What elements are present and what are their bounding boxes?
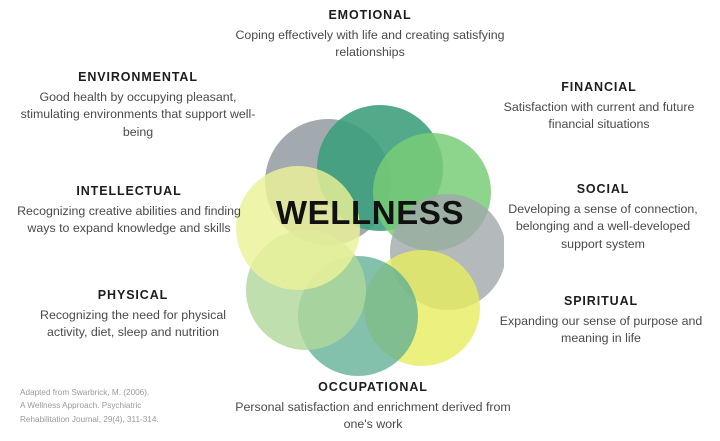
citation-line-3: Rehabilitation Journal, 29(4), 311-314. (20, 413, 220, 426)
dimension-label-occupational: OCCUPATIONAL Personal satisfaction and e… (232, 380, 514, 434)
dimension-desc-occupational: Personal satisfaction and enrichment der… (232, 399, 514, 434)
dimension-title-physical: PHYSICAL (22, 288, 244, 304)
dimension-desc-emotional: Coping effectively with life and creatin… (232, 27, 508, 62)
dimension-title-occupational: OCCUPATIONAL (232, 380, 514, 396)
dimension-label-emotional: EMOTIONAL Coping effectively with life a… (232, 8, 508, 62)
dimension-title-environmental: ENVIRONMENTAL (14, 70, 262, 86)
dimension-title-intellectual: INTELLECTUAL (14, 184, 244, 200)
dimension-label-environmental: ENVIRONMENTAL Good health by occupying p… (14, 70, 262, 141)
dimension-desc-environmental: Good health by occupying pleasant, stimu… (14, 89, 262, 142)
dimension-desc-spiritual: Expanding our sense of purpose and meani… (490, 313, 712, 348)
dimension-label-social: SOCIAL Developing a sense of connection,… (496, 182, 710, 253)
citation-line-1: Adapted from Swarbrick, M. (2006). (20, 386, 220, 399)
dimension-title-financial: FINANCIAL (488, 80, 710, 96)
dimension-desc-social: Developing a sense of connection, belong… (496, 201, 710, 254)
wellness-venn-diagram: WELLNESS (236, 76, 504, 376)
dimension-title-social: SOCIAL (496, 182, 710, 198)
dimension-desc-physical: Recognizing the need for physical activi… (22, 307, 244, 342)
dimension-label-spiritual: SPIRITUAL Expanding our sense of purpose… (490, 294, 712, 348)
dimension-desc-intellectual: Recognizing creative abilities and findi… (14, 203, 244, 238)
citation-line-2: A Wellness Approach. Psychiatric (20, 399, 220, 412)
dimension-label-physical: PHYSICAL Recognizing the need for physic… (22, 288, 244, 342)
dimension-desc-financial: Satisfaction with current and future fin… (488, 99, 710, 134)
source-citation: Adapted from Swarbrick, M. (2006). A Wel… (20, 386, 220, 426)
wellness-center-title: WELLNESS (236, 196, 504, 229)
dimension-title-spiritual: SPIRITUAL (490, 294, 712, 310)
dimension-title-emotional: EMOTIONAL (232, 8, 508, 24)
dimension-label-financial: FINANCIAL Satisfaction with current and … (488, 80, 710, 134)
dimension-label-intellectual: INTELLECTUAL Recognizing creative abilit… (14, 184, 244, 238)
